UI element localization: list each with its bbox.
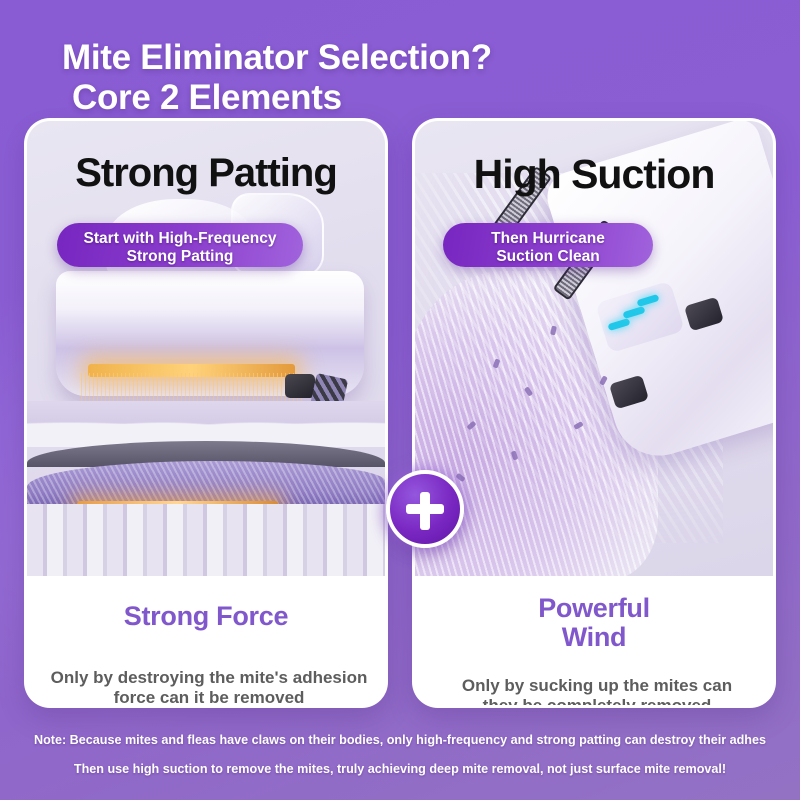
mattress-spring-coils-layer bbox=[27, 504, 385, 576]
page-title-line-2: Core 2 Elements bbox=[62, 78, 800, 118]
caption-title-strong-force: Strong Force bbox=[27, 602, 385, 631]
strong-patting-photo: Strong Patting Start with High-Frequency… bbox=[27, 121, 385, 576]
plus-icon bbox=[386, 470, 464, 548]
device-nozzle-icon bbox=[285, 374, 315, 398]
feature-cards-container: Strong Patting Start with High-Frequency… bbox=[24, 118, 776, 708]
high-suction-caption: Powerful Wind Only by sucking up the mit… bbox=[415, 576, 773, 708]
badge-label: Then Hurricane Suction Clean bbox=[443, 230, 653, 266]
footer-note-line-1: Note: Because mites and fleas have claws… bbox=[0, 733, 800, 747]
high-suction-photo: High Suction Then Hurricane Suction Clea… bbox=[415, 121, 773, 576]
page-title-line-1: Mite Eliminator Selection? bbox=[62, 38, 492, 77]
badge-label: Start with High-Frequency Strong Patting bbox=[57, 230, 303, 266]
feature-card-strong-patting[interactable]: Strong Patting Start with High-Frequency… bbox=[24, 118, 388, 708]
feature-card-high-suction[interactable]: High Suction Then Hurricane Suction Clea… bbox=[412, 118, 776, 708]
badge-start-with-high-frequency: Start with High-Frequency Strong Patting bbox=[57, 223, 303, 267]
mattress-cross-section bbox=[27, 401, 385, 576]
caption-title-powerful-wind: Powerful Wind bbox=[415, 594, 773, 652]
caption-body-strong-force: Only by destroying the mite's adhesion f… bbox=[24, 668, 388, 708]
footer-note-line-2: Then use high suction to remove the mite… bbox=[0, 762, 800, 776]
page-title: Mite Eliminator Selection? Core 2 Elemen… bbox=[0, 38, 800, 117]
card-heading-high-suction: High Suction bbox=[415, 151, 773, 198]
strong-patting-caption: Strong Force Only by destroying the mite… bbox=[27, 576, 385, 708]
badge-then-hurricane-suction: Then Hurricane Suction Clean bbox=[443, 223, 653, 267]
card-heading-strong-patting: Strong Patting bbox=[27, 151, 385, 196]
caption-body-powerful-wind: Only by sucking up the mites can they be… bbox=[412, 676, 776, 708]
